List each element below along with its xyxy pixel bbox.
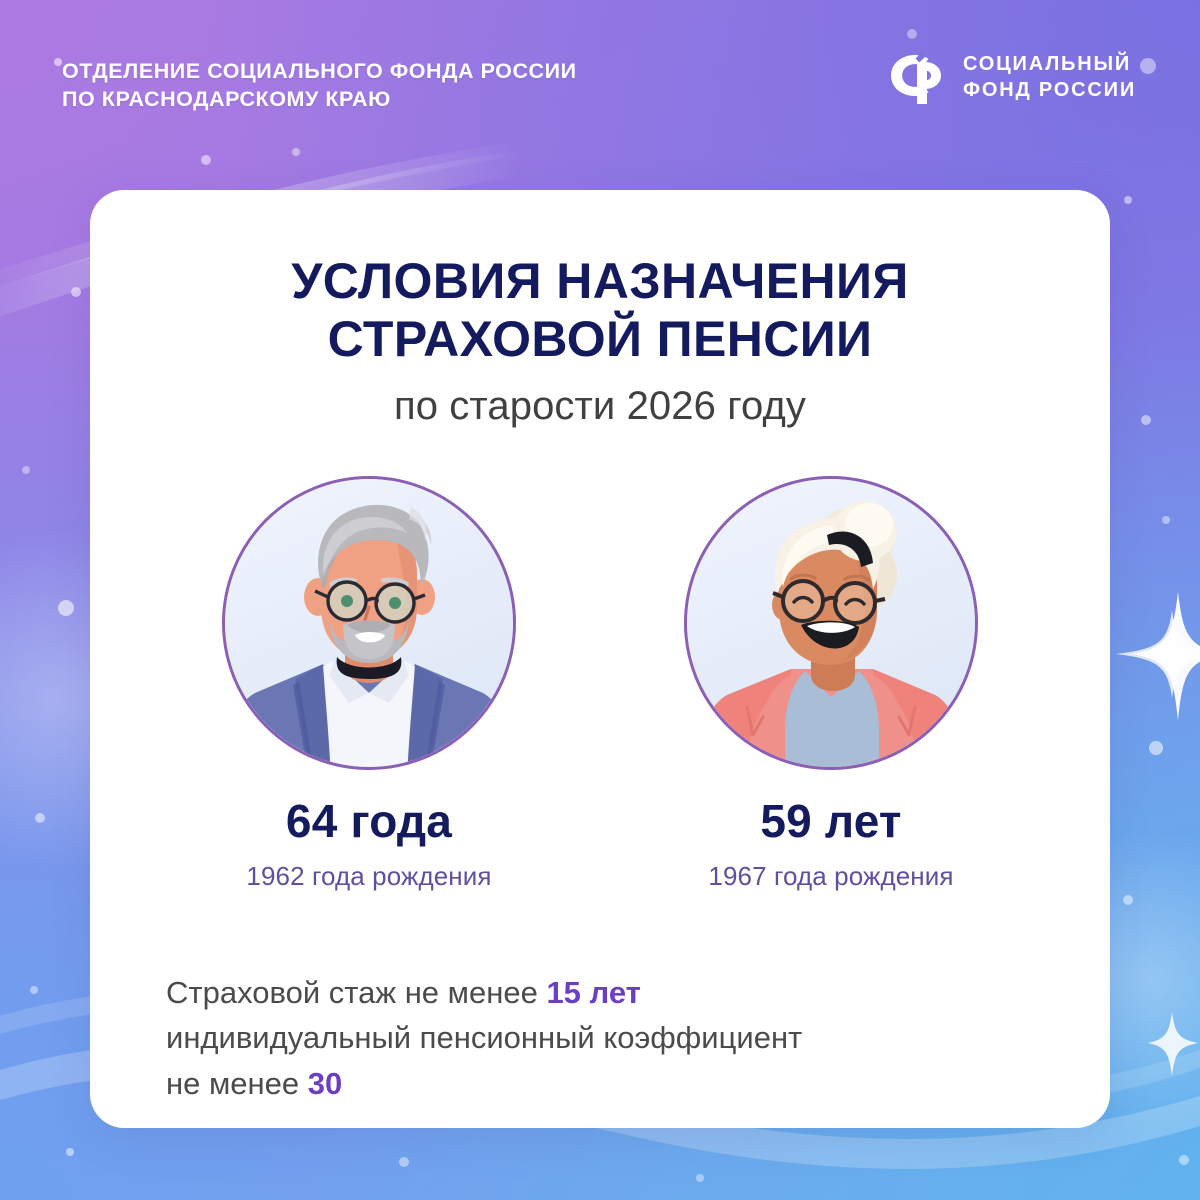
requirements-note: Страховой стаж не менее 15 лет индивидуа… [166, 970, 1026, 1107]
content-card: УСЛОВИЯ НАЗНАЧЕНИЯ СТРАХОВОЙ ПЕНСИИ по с… [90, 190, 1110, 1128]
pension-infographic-poster: ОТДЕЛЕНИЕ СОЦИАЛЬНОГО ФОНДА РОССИИ ПО КР… [0, 0, 1200, 1200]
brand-name: СОЦИАЛЬНЫЙ ФОНД РОССИИ [963, 51, 1136, 103]
sfr-monogram-icon [884, 48, 946, 106]
requirement-line1-prefix: Страховой стаж не менее [166, 975, 546, 1010]
requirement-years-highlight: 15 лет [546, 975, 640, 1010]
requirement-line3-prefix: не менее [166, 1066, 308, 1101]
requirement-line2: индивидуальный пенсионный коэффициент [166, 1020, 802, 1055]
organization-title: ОТДЕЛЕНИЕ СОЦИАЛЬНОГО ФОНДА РОССИИ ПО КР… [62, 58, 577, 114]
sparkle-star-small-icon [1148, 1012, 1198, 1076]
person-age-woman: 59 лет [676, 796, 986, 847]
person-birth-year-woman: 1967 года рождения [676, 861, 986, 892]
person-age-man: 64 года [214, 796, 524, 847]
person-card-man: 64 года 1962 года рождения [214, 476, 524, 892]
persons-row: 64 года 1962 года рождения [90, 476, 1110, 892]
elderly-woman-avatar-icon [684, 476, 978, 770]
sparkle-star-icon [1116, 592, 1200, 720]
page-subtitle: по старости 2026 году [144, 382, 1056, 430]
person-birth-year-man: 1962 года рождения [214, 861, 524, 892]
elderly-man-avatar-icon [222, 476, 516, 770]
page-title: УСЛОВИЯ НАЗНАЧЕНИЯ СТРАХОВОЙ ПЕНСИИ [144, 252, 1056, 368]
brand-lockup: СОЦИАЛЬНЫЙ ФОНД РОССИИ [884, 48, 1136, 106]
poster-header: ОТДЕЛЕНИЕ СОЦИАЛЬНОГО ФОНДА РОССИИ ПО КР… [0, 0, 1200, 150]
person-card-woman: 59 лет 1967 года рождения [676, 476, 986, 892]
requirement-coefficient-highlight: 30 [308, 1066, 342, 1101]
